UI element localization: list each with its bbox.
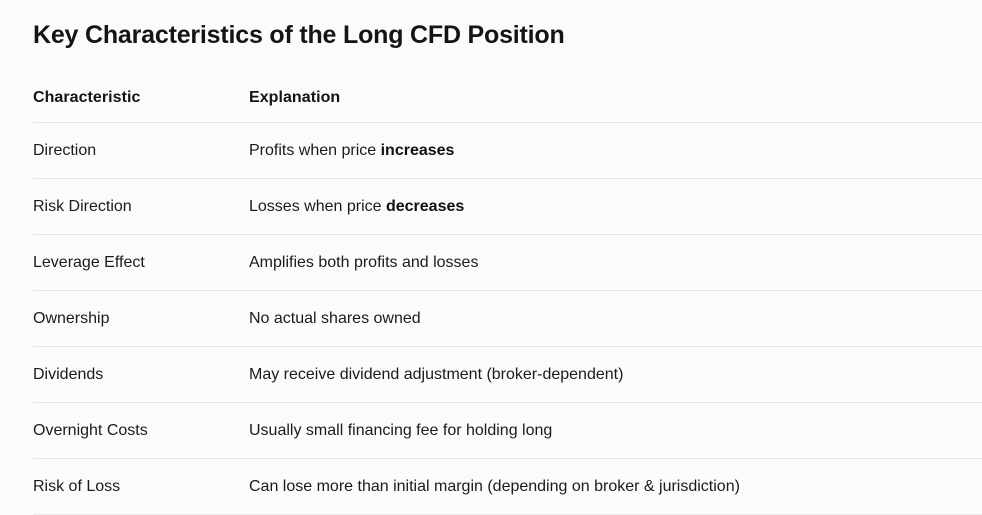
column-header-characteristic: Characteristic <box>33 76 249 123</box>
table-body: Direction Profits when price increases R… <box>33 123 982 515</box>
explanation-text: Losses when price decreases <box>249 196 982 218</box>
characteristic-label: Risk of Loss <box>33 476 249 498</box>
characteristic-label: Leverage Effect <box>33 252 249 274</box>
explanation-prefix: Can lose more than initial margin (depen… <box>249 478 740 495</box>
table-row: Risk of Loss Can lose more than initial … <box>33 459 982 515</box>
explanation-prefix: Profits when price <box>249 142 381 159</box>
cell-explanation: May receive dividend adjustment (broker-… <box>249 347 982 403</box>
cell-explanation: Profits when price increases <box>249 123 982 179</box>
table-row: Ownership No actual shares owned <box>33 291 982 347</box>
characteristic-label: Direction <box>33 140 249 162</box>
explanation-text: Usually small financing fee for holding … <box>249 420 982 442</box>
page-title: Key Characteristics of the Long CFD Posi… <box>33 19 565 51</box>
column-header-explanation: Explanation <box>249 76 982 123</box>
explanation-prefix: No actual shares owned <box>249 310 421 327</box>
cell-explanation: Amplifies both profits and losses <box>249 235 982 291</box>
cell-explanation: No actual shares owned <box>249 291 982 347</box>
cell-explanation: Can lose more than initial margin (depen… <box>249 459 982 515</box>
cell-characteristic: Risk Direction <box>33 179 249 235</box>
explanation-text: May receive dividend adjustment (broker-… <box>249 364 982 386</box>
cell-explanation: Usually small financing fee for holding … <box>249 403 982 459</box>
explanation-prefix: Usually small financing fee for holding … <box>249 422 552 439</box>
explanation-text: No actual shares owned <box>249 308 982 330</box>
table-row: Risk Direction Losses when price decreas… <box>33 179 982 235</box>
cell-characteristic: Direction <box>33 123 249 179</box>
explanation-prefix: May receive dividend adjustment (broker-… <box>249 366 623 383</box>
characteristic-label: Ownership <box>33 308 249 330</box>
characteristic-label: Dividends <box>33 364 249 386</box>
explanation-text: Amplifies both profits and losses <box>249 252 982 274</box>
table-row: Direction Profits when price increases <box>33 123 982 179</box>
explanation-prefix: Losses when price <box>249 198 386 215</box>
table-row: Leverage Effect Amplifies both profits a… <box>33 235 982 291</box>
cell-explanation: Losses when price decreases <box>249 179 982 235</box>
table-header: Characteristic Explanation <box>33 76 982 123</box>
explanation-emphasis: increases <box>381 142 455 159</box>
characteristic-label: Risk Direction <box>33 196 249 218</box>
cell-characteristic: Risk of Loss <box>33 459 249 515</box>
table-row: Dividends May receive dividend adjustmen… <box>33 347 982 403</box>
explanation-text: Can lose more than initial margin (depen… <box>249 476 982 498</box>
explanation-emphasis: decreases <box>386 198 464 215</box>
cell-characteristic: Dividends <box>33 347 249 403</box>
cell-characteristic: Ownership <box>33 291 249 347</box>
key-characteristics-table: Characteristic Explanation Direction Pro… <box>33 76 982 515</box>
characteristic-label: Overnight Costs <box>33 420 249 442</box>
explanation-prefix: Amplifies both profits and losses <box>249 254 478 271</box>
cell-characteristic: Leverage Effect <box>33 235 249 291</box>
table-header-row: Characteristic Explanation <box>33 76 982 123</box>
document-page: Key Characteristics of the Long CFD Posi… <box>0 0 982 513</box>
explanation-text: Profits when price increases <box>249 140 982 162</box>
cell-characteristic: Overnight Costs <box>33 403 249 459</box>
table-row: Overnight Costs Usually small financing … <box>33 403 982 459</box>
